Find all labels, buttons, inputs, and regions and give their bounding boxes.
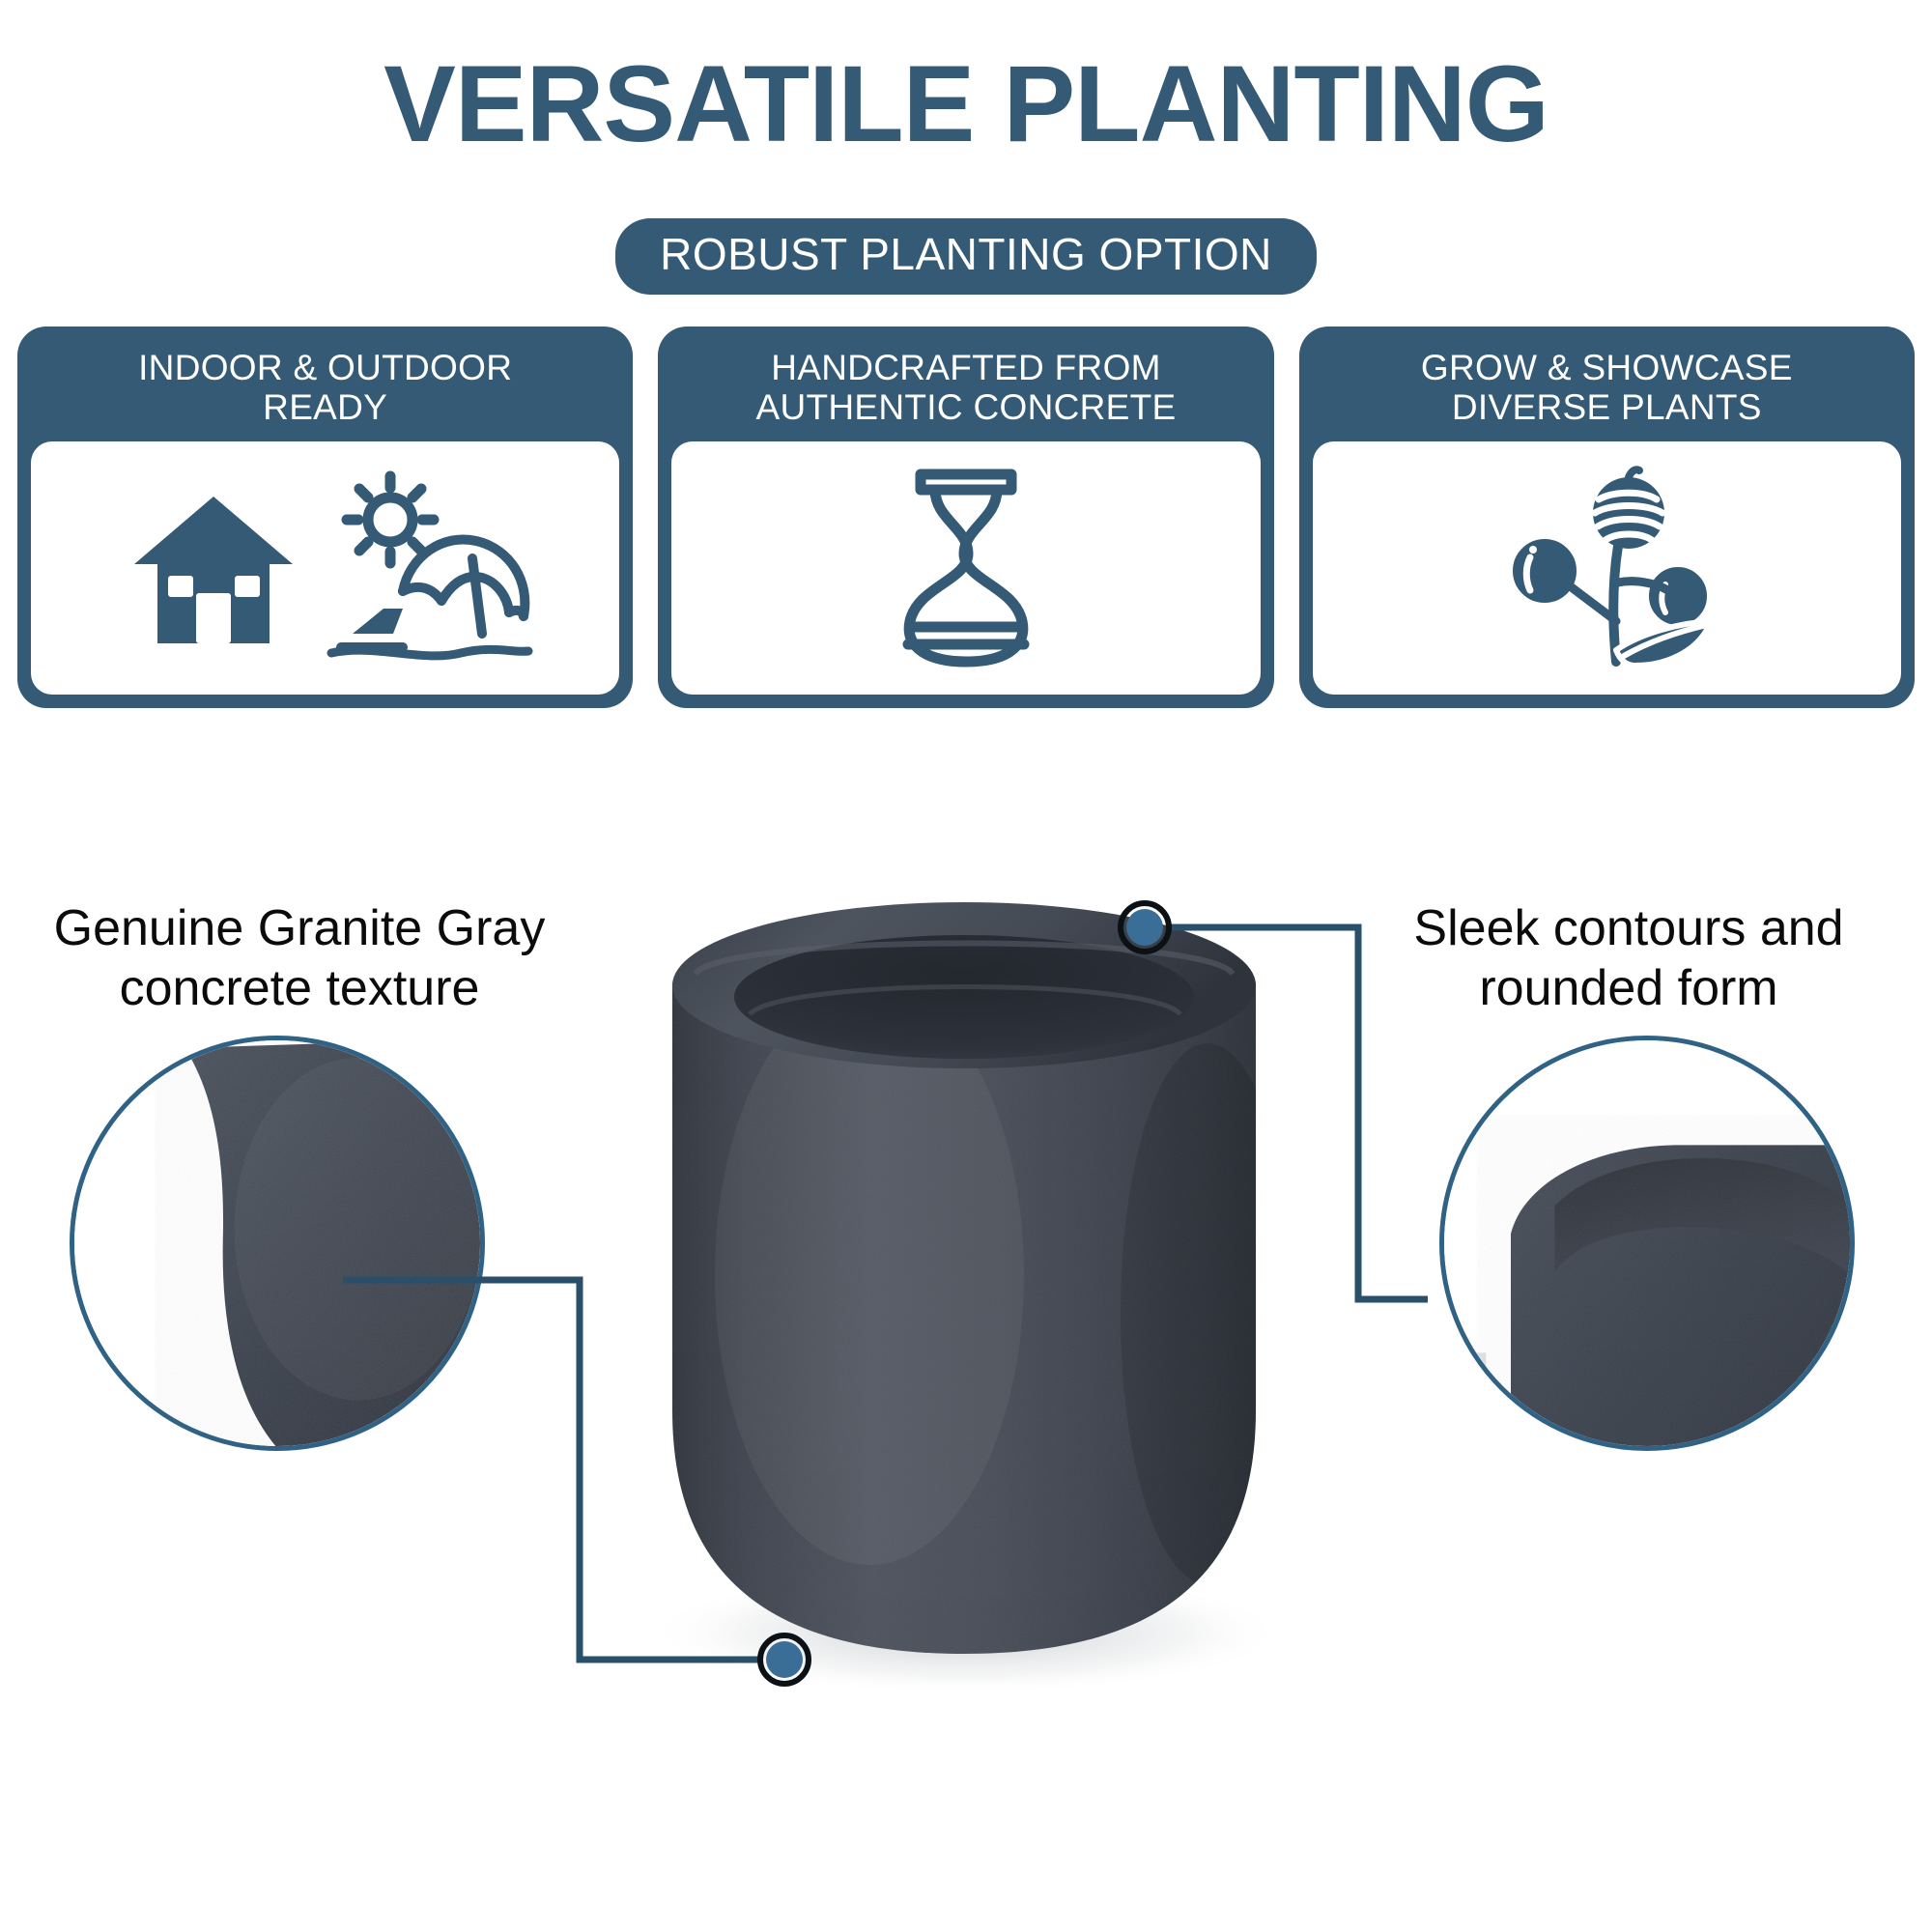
rim-contour-closeup xyxy=(1442,1038,1852,1448)
feature-box-title: GROW & SHOWCASE DIVERSE PLANTS xyxy=(1313,342,1901,441)
vase-icon xyxy=(908,474,1024,662)
berry-sprig-icon xyxy=(1510,469,1711,666)
feature-icon-panel xyxy=(31,441,619,695)
infographic-page: VERSATILE PLANTING ROBUST PLANTING OPTIO… xyxy=(0,0,1932,1932)
page-title: VERSATILE PLANTING xyxy=(0,50,1932,158)
feature-box-title: HANDCRAFTED FROM AUTHENTIC CONCRETE xyxy=(671,342,1260,441)
inset-circle-concrete-texture xyxy=(70,1036,485,1451)
feature-icon-panel xyxy=(671,441,1260,695)
inset-circle-rim-contour xyxy=(1439,1036,1855,1451)
feature-box-diverse-plants: GROW & SHOWCASE DIVERSE PLANTS xyxy=(1299,327,1915,708)
product-image-planter xyxy=(580,869,1352,1719)
house-icon xyxy=(134,497,293,643)
feature-box-handcrafted-concrete: HANDCRAFTED FROM AUTHENTIC CONCRETE xyxy=(658,327,1273,708)
feature-box-row: INDOOR & OUTDOOR READY xyxy=(0,327,1932,708)
callout-label-left: Genuine Granite Gray concrete texture xyxy=(10,898,589,1019)
concrete-texture-closeup xyxy=(72,1038,482,1448)
feature-box-indoor-outdoor: INDOOR & OUTDOOR READY xyxy=(17,327,633,708)
feature-box-title: INDOOR & OUTDOOR READY xyxy=(31,342,619,441)
sun-icon xyxy=(347,476,434,563)
subtitle-badge: ROBUST PLANTING OPTION xyxy=(615,218,1317,295)
subtitle-badge-container: ROBUST PLANTING OPTION xyxy=(0,218,1932,295)
beach-umbrella-icon xyxy=(331,540,528,656)
feature-icon-panel xyxy=(1313,441,1901,695)
callout-label-right: Sleek contours and rounded form xyxy=(1339,898,1918,1019)
